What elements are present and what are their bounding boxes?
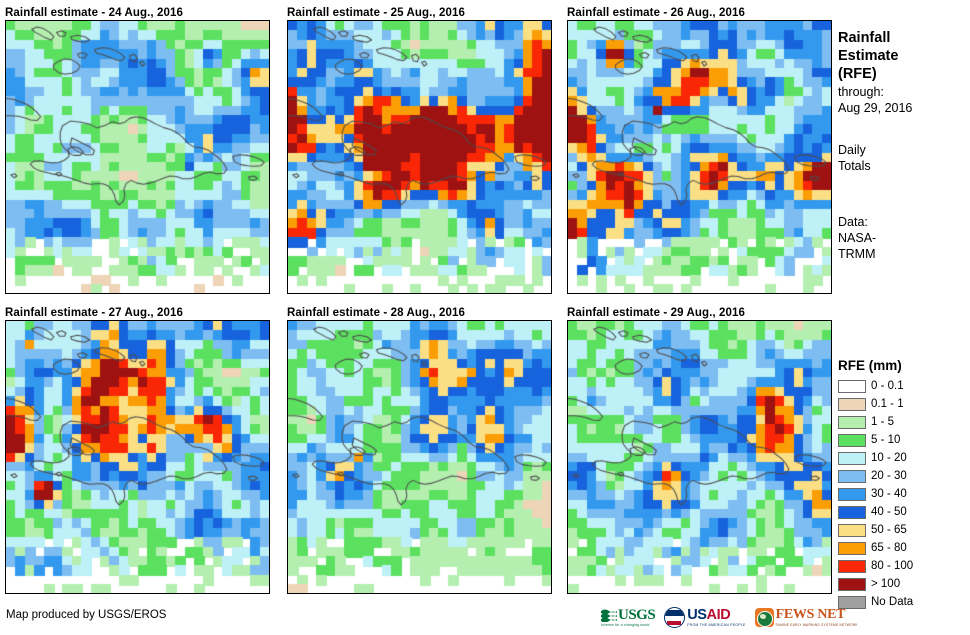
agency-logos: USGS science for a changing world USAID … — [601, 604, 858, 631]
legend-row: 65 - 80 — [838, 539, 968, 557]
legend: RFE (mm) 0 - 0.10.1 - 11 - 55 - 1010 - 2… — [838, 358, 968, 611]
legend-swatch — [838, 578, 866, 591]
map-canvas-frame[interactable] — [287, 320, 552, 594]
legend-row: 30 - 40 — [838, 485, 968, 503]
rainfall-raster — [288, 21, 551, 293]
data-source-line-1: NASA- — [838, 230, 968, 246]
legend-swatch — [838, 524, 866, 537]
legend-label: 1 - 5 — [871, 416, 894, 429]
legend-row: 80 - 100 — [838, 557, 968, 575]
figure-title-line-3: (RFE) — [838, 66, 968, 83]
legend-row: 40 - 50 — [838, 503, 968, 521]
map-panel-6: Rainfall estimate - 29 Aug., 2016 — [567, 306, 832, 594]
through-label: through: — [838, 84, 968, 100]
rainfall-raster — [6, 321, 269, 593]
totals-label-line-2: Totals — [838, 158, 968, 174]
legend-label: 80 - 100 — [871, 560, 913, 573]
legend-label: 10 - 20 — [871, 452, 907, 465]
map-canvas-frame[interactable] — [567, 20, 832, 294]
legend-row: 20 - 30 — [838, 467, 968, 485]
legend-swatch — [838, 560, 866, 573]
figure-info-panel: Rainfall Estimate (RFE) through: Aug 29,… — [838, 30, 968, 262]
legend-row: 10 - 20 — [838, 449, 968, 467]
legend-label: 30 - 40 — [871, 488, 907, 501]
usgs-wave-icon — [601, 609, 617, 622]
legend-swatch — [838, 398, 866, 411]
legend-label: 0.1 - 1 — [871, 398, 904, 411]
legend-swatch — [838, 542, 866, 555]
fewsnet-logo[interactable]: FEWS NET FAMINE EARLY WARNING SYSTEMS NE… — [755, 605, 858, 631]
legend-swatch — [838, 506, 866, 519]
panel-title: Rainfall estimate - 27 Aug., 2016 — [5, 306, 270, 320]
data-source-line-2: TRMM — [838, 246, 968, 262]
figure-title-line-2: Estimate — [838, 48, 968, 65]
panel-title: Rainfall estimate - 26 Aug., 2016 — [567, 6, 832, 20]
rainfall-raster — [288, 321, 551, 593]
legend-swatch — [838, 488, 866, 501]
map-canvas-frame[interactable] — [567, 320, 832, 594]
usgs-wordmark: USGS — [618, 608, 655, 622]
rainfall-raster — [568, 21, 831, 293]
panel-title: Rainfall estimate - 24 Aug., 2016 — [5, 6, 270, 20]
rainfall-raster — [568, 321, 831, 593]
map-canvas-frame[interactable] — [5, 20, 270, 294]
usaid-seal-icon — [664, 607, 685, 628]
legend-label: > 100 — [871, 578, 900, 591]
legend-row: 5 - 10 — [838, 431, 968, 449]
usgs-logo[interactable]: USGS science for a changing world — [601, 605, 655, 631]
totals-label-line-1: Daily — [838, 142, 968, 158]
usaid-wordmark: USAID — [687, 608, 730, 622]
usaid-logo[interactable]: USAID FROM THE AMERICAN PEOPLE — [664, 605, 745, 631]
legend-label: 65 - 80 — [871, 542, 907, 555]
legend-swatch — [838, 452, 866, 465]
legend-swatch — [838, 380, 866, 393]
map-canvas-frame[interactable] — [287, 20, 552, 294]
globe-icon — [755, 608, 774, 627]
legend-title: RFE (mm) — [838, 358, 968, 373]
rainfall-map-figure: Rainfall estimate - 24 Aug., 2016 Rainfa… — [0, 0, 970, 635]
rainfall-raster — [6, 21, 269, 293]
panel-title: Rainfall estimate - 28 Aug., 2016 — [287, 306, 552, 320]
map-credit: Map produced by USGS/EROS — [6, 609, 166, 621]
legend-row: 1 - 5 — [838, 413, 968, 431]
panel-title: Rainfall estimate - 29 Aug., 2016 — [567, 306, 832, 320]
through-date: Aug 29, 2016 — [838, 100, 968, 116]
map-panel-3: Rainfall estimate - 26 Aug., 2016 — [567, 6, 832, 294]
usgs-tagline: science for a changing world — [601, 623, 649, 627]
data-label: Data: — [838, 214, 968, 230]
legend-row: 0 - 0.1 — [838, 377, 968, 395]
spacer — [838, 174, 968, 214]
legend-label: No Data — [871, 596, 913, 609]
legend-rows: 0 - 0.10.1 - 11 - 55 - 1010 - 2020 - 303… — [838, 377, 968, 611]
map-panel-1: Rainfall estimate - 24 Aug., 2016 — [5, 6, 270, 294]
fewsnet-tagline: FAMINE EARLY WARNING SYSTEMS NETWORK — [776, 623, 858, 627]
map-panel-5: Rainfall estimate - 28 Aug., 2016 — [287, 306, 552, 594]
map-canvas-frame[interactable] — [5, 320, 270, 594]
legend-swatch — [838, 416, 866, 429]
legend-label: 5 - 10 — [871, 434, 900, 447]
legend-row: > 100 — [838, 575, 968, 593]
legend-swatch — [838, 434, 866, 447]
legend-label: 20 - 30 — [871, 470, 907, 483]
map-panel-2: Rainfall estimate - 25 Aug., 2016 — [287, 6, 552, 294]
panel-title: Rainfall estimate - 25 Aug., 2016 — [287, 6, 552, 20]
usaid-tagline: FROM THE AMERICAN PEOPLE — [687, 623, 745, 627]
figure-title-line-1: Rainfall — [838, 30, 968, 47]
legend-label: 40 - 50 — [871, 506, 907, 519]
legend-row: 50 - 65 — [838, 521, 968, 539]
legend-label: 50 - 65 — [871, 524, 907, 537]
legend-swatch — [838, 470, 866, 483]
legend-row: 0.1 - 1 — [838, 395, 968, 413]
spacer — [838, 116, 968, 142]
map-panel-4: Rainfall estimate - 27 Aug., 2016 — [5, 306, 270, 594]
fewsnet-wordmark: FEWS NET — [776, 608, 846, 622]
legend-label: 0 - 0.1 — [871, 380, 904, 393]
